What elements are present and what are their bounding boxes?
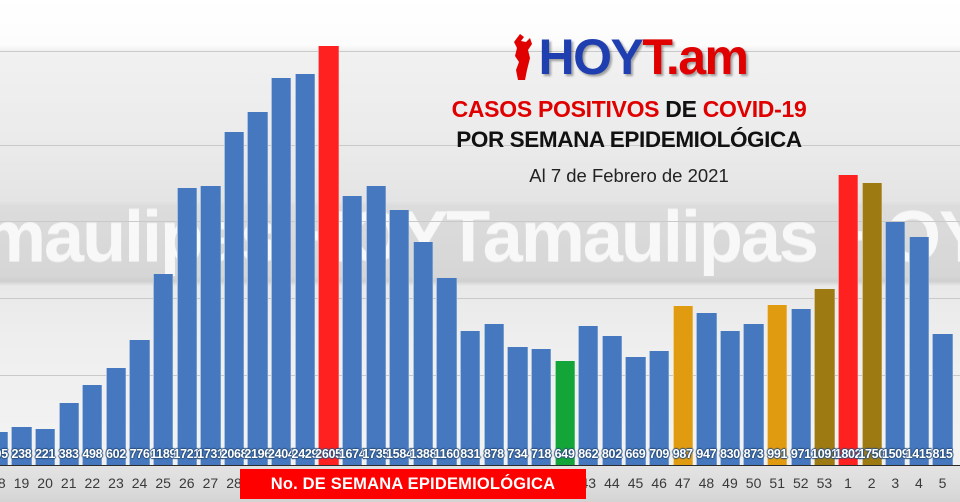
title-casos-positivos: CASOS POSITIVOS	[452, 96, 660, 122]
x-tick-48: 48	[699, 475, 715, 491]
bar-value-label: 1415	[906, 447, 933, 461]
x-tick-53: 53	[817, 475, 833, 491]
bar-week-45[interactable]: 669	[625, 357, 645, 465]
tamaulipas-map-icon	[510, 32, 536, 82]
bar-week-29[interactable]: 2196	[247, 112, 267, 465]
bar-value-label: 815	[933, 447, 953, 461]
bar-week-30[interactable]: 2404	[271, 78, 291, 465]
x-tick-52: 52	[793, 475, 809, 491]
bar-value-label: 947	[696, 447, 716, 461]
bar-value-label: 1802	[835, 447, 862, 461]
bar-value-label: 709	[649, 447, 669, 461]
bar-value-label: 1721	[173, 447, 200, 461]
bar-value-label: 669	[626, 447, 646, 461]
hoytam-logo[interactable]: HOY T.am	[449, 28, 809, 86]
bar-value-label: 987	[673, 447, 693, 461]
x-tick-45: 45	[628, 475, 644, 491]
bar-week-25[interactable]: 1189	[153, 274, 173, 465]
bar-value-label: 734	[507, 447, 527, 461]
bar-week-20[interactable]: 221	[35, 429, 55, 465]
bar-value-label: 991	[767, 447, 787, 461]
bar-value-label: 2429	[292, 447, 319, 461]
bar-week-40[interactable]: 734	[507, 347, 527, 465]
chart-date: Al 7 de Febrero de 2021	[449, 165, 809, 187]
x-tick-46: 46	[651, 475, 667, 491]
bar-week-52[interactable]: 971	[791, 309, 811, 465]
bar-week-51[interactable]: 991	[767, 305, 787, 465]
bar-week-21[interactable]: 383	[59, 403, 79, 465]
bar-week-18[interactable]: 205	[0, 432, 8, 465]
bar-week-49[interactable]: 830	[720, 331, 740, 465]
x-tick-18: 18	[0, 475, 6, 491]
bar-week-24[interactable]: 776	[129, 340, 149, 465]
bar-value-label: 649	[555, 447, 575, 461]
x-tick-1: 1	[844, 475, 852, 491]
bar-week-43[interactable]: 862	[578, 326, 598, 465]
x-axis-title-banner: No. DE SEMANA EPIDEMIOLÓGICA	[240, 469, 586, 499]
bar-value-label: 221	[35, 447, 55, 461]
bar-week-1[interactable]: 1802	[838, 175, 858, 465]
x-tick-50: 50	[746, 475, 762, 491]
bar-value-label: 878	[484, 447, 504, 461]
bar-value-label: 1674	[339, 447, 366, 461]
bar-value-label: 873	[744, 447, 764, 461]
x-tick-44: 44	[604, 475, 620, 491]
x-tick-3: 3	[891, 475, 899, 491]
bar-value-label: 602	[106, 447, 126, 461]
title-covid19: COVID-19	[703, 96, 807, 122]
x-tick-22: 22	[85, 475, 101, 491]
bar-value-label: 205	[0, 447, 8, 461]
bar-week-32[interactable]: 2605	[318, 46, 338, 465]
bar-week-41[interactable]: 718	[531, 349, 551, 465]
bar-value-label: 1509	[882, 447, 909, 461]
bar-value-label: 971	[791, 447, 811, 461]
x-tick-20: 20	[37, 475, 53, 491]
bar-week-28[interactable]: 2068	[224, 132, 244, 465]
bar-week-50[interactable]: 873	[743, 324, 763, 465]
bar-week-42[interactable]: 649	[555, 361, 575, 465]
bar-value-label: 802	[602, 447, 622, 461]
bar-week-31[interactable]: 2429	[295, 74, 315, 465]
bar-value-label: 498	[82, 447, 102, 461]
x-tick-21: 21	[61, 475, 77, 491]
bar-value-label: 831	[460, 447, 480, 461]
chart-subtitle: POR SEMANA EPIDEMIOLÓGICA	[449, 127, 809, 153]
x-tick-25: 25	[155, 475, 171, 491]
logo-tam: T.am	[642, 32, 747, 82]
x-tick-47: 47	[675, 475, 691, 491]
bar-week-26[interactable]: 1721	[177, 188, 197, 465]
x-tick-26: 26	[179, 475, 195, 491]
bar-week-44[interactable]: 802	[602, 336, 622, 465]
bar-week-2[interactable]: 1750	[862, 183, 882, 465]
bar-week-22[interactable]: 498	[82, 385, 102, 465]
bar-value-label: 2196	[244, 447, 271, 461]
bar-value-label: 1189	[150, 447, 176, 461]
bar-week-4[interactable]: 1415	[909, 237, 929, 465]
bar-value-label: 776	[130, 447, 150, 461]
bar-week-27[interactable]: 1731	[200, 186, 220, 465]
bar-week-47[interactable]: 987	[673, 306, 693, 465]
bar-week-38[interactable]: 831	[460, 331, 480, 465]
x-tick-49: 49	[722, 475, 738, 491]
bar-value-label: 238	[11, 447, 31, 461]
bar-week-36[interactable]: 1388	[413, 242, 433, 465]
bar-value-label: 862	[578, 447, 598, 461]
x-tick-4: 4	[915, 475, 923, 491]
bar-week-46[interactable]: 709	[649, 351, 669, 465]
x-tick-2: 2	[868, 475, 876, 491]
bar-value-label: 1160	[434, 447, 460, 461]
bar-week-23[interactable]: 602	[106, 368, 126, 465]
bar-value-label: 1388	[410, 447, 437, 461]
bar-week-39[interactable]: 878	[484, 324, 504, 465]
bar-value-label: 830	[720, 447, 740, 461]
bar-value-label: 383	[59, 447, 79, 461]
x-tick-23: 23	[108, 475, 124, 491]
bar-week-5[interactable]: 815	[932, 334, 952, 465]
bar-week-19[interactable]: 238	[11, 427, 31, 465]
logo-hoy: HOY	[538, 32, 642, 82]
bar-week-35[interactable]: 1584	[389, 210, 409, 465]
bar-week-3[interactable]: 1509	[885, 222, 905, 465]
title-de: DE	[659, 96, 703, 122]
chart-canvas: maulipas HOYTamaulipas HOYTam 2052382213…	[0, 0, 960, 502]
bar-value-label: 718	[531, 447, 551, 461]
chart-header: HOY T.am CASOS POSITIVOS DE COVID-19 POR…	[449, 28, 809, 187]
bar-week-33[interactable]: 1674	[342, 196, 362, 465]
x-tick-51: 51	[769, 475, 785, 491]
x-tick-5: 5	[939, 475, 947, 491]
x-tick-19: 19	[14, 475, 30, 491]
bar-week-37[interactable]: 1160	[436, 278, 456, 465]
x-tick-24: 24	[132, 475, 148, 491]
bar-week-48[interactable]: 947	[696, 313, 716, 465]
x-tick-27: 27	[203, 475, 219, 491]
bar-week-34[interactable]: 1735	[366, 186, 386, 465]
chart-title-line1: CASOS POSITIVOS DE COVID-19	[449, 96, 809, 123]
bar-week-53[interactable]: 1091	[814, 289, 834, 465]
